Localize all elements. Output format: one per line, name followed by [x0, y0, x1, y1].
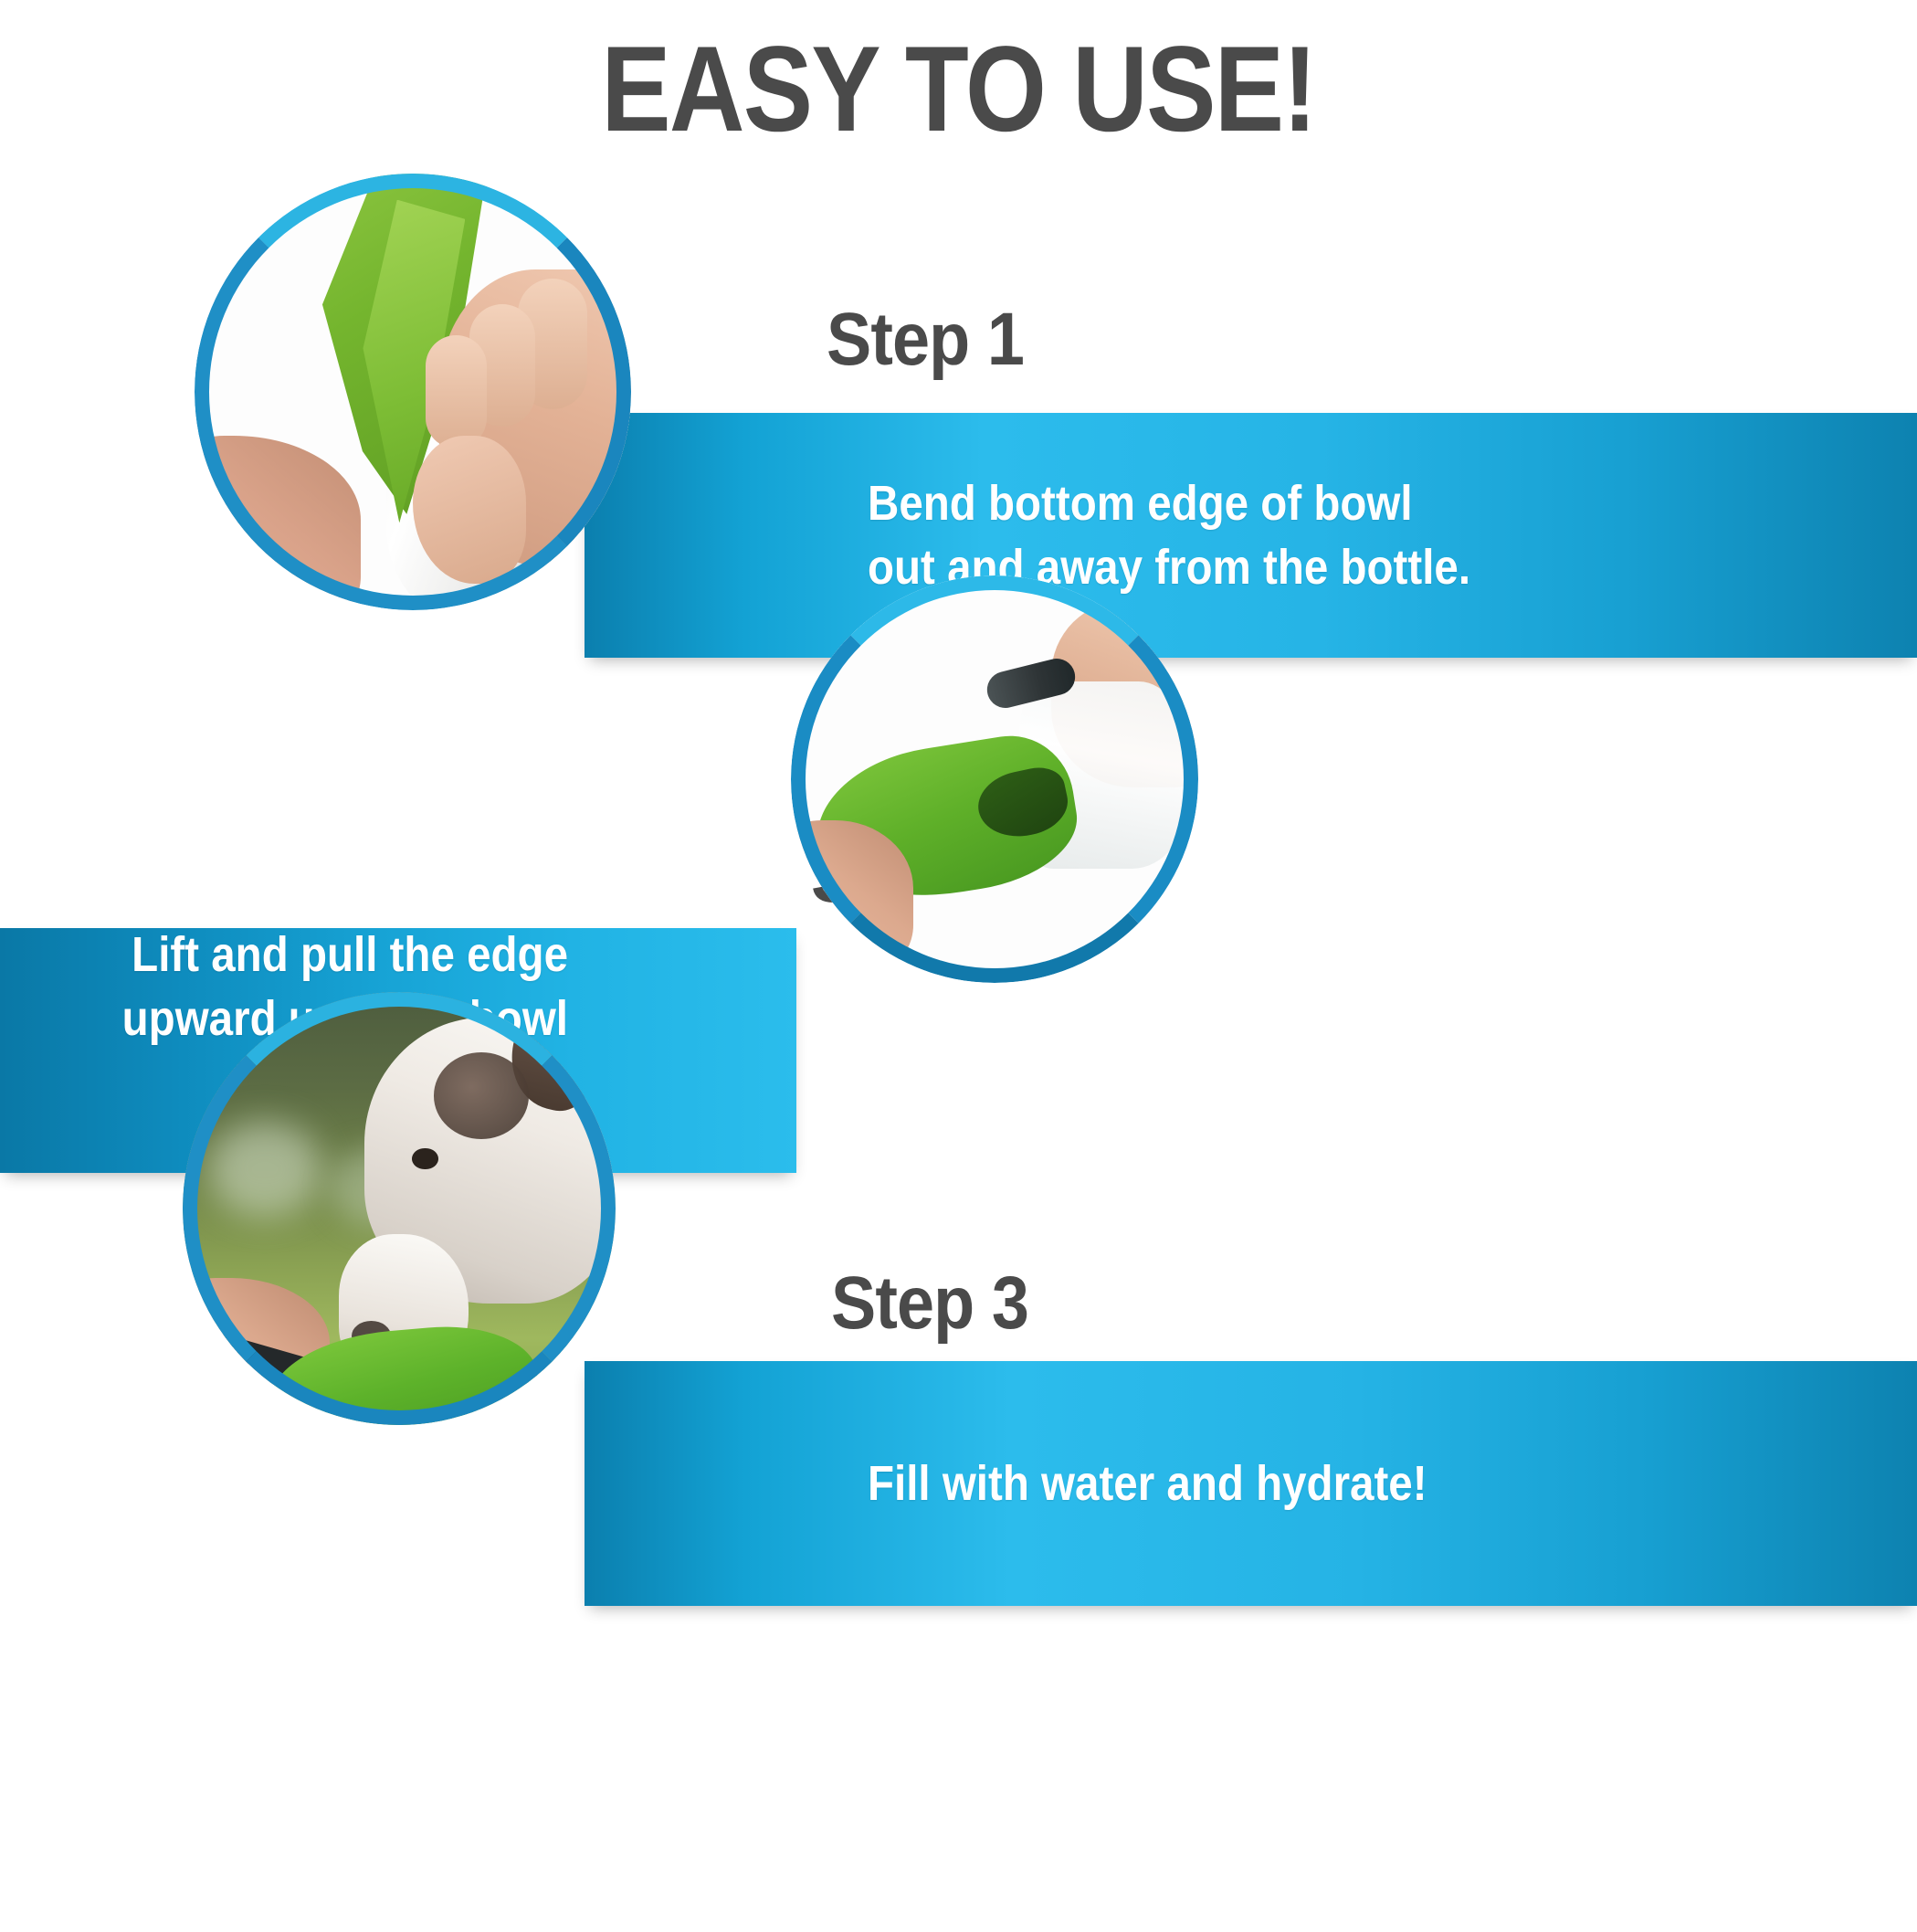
- page-title: EASY TO USE!: [134, 20, 1783, 159]
- step-3-label: Step 3: [831, 1261, 1028, 1346]
- step-1-photo: [195, 174, 631, 610]
- finger-shape: [426, 335, 487, 449]
- step-1-label: Step 1: [827, 297, 1024, 383]
- step-2-photo: [791, 575, 1198, 983]
- step-1-banner-inner: Bend bottom edge of bowl out and away fr…: [585, 413, 1917, 658]
- step-1-image-circle: [195, 174, 631, 610]
- dog-eye-shape: [412, 1148, 437, 1170]
- step-3-banner: Fill with water and hydrate!: [585, 1361, 1917, 1606]
- bokeh-highlight: [208, 1122, 321, 1217]
- infographic-page: EASY TO USE! Bend bottom edge of bowl ou…: [0, 0, 1917, 1932]
- step-3-instruction-text: Fill with water and hydrate!: [868, 1452, 1427, 1515]
- step-3-photo: [183, 992, 616, 1425]
- step-1-banner: Bend bottom edge of bowl out and away fr…: [585, 413, 1917, 658]
- step-3-banner-inner: Fill with water and hydrate!: [585, 1361, 1917, 1606]
- step-3-image-circle: [183, 992, 616, 1425]
- dog-face-patch-shape: [434, 1052, 529, 1139]
- step-2-image-circle: [791, 575, 1198, 983]
